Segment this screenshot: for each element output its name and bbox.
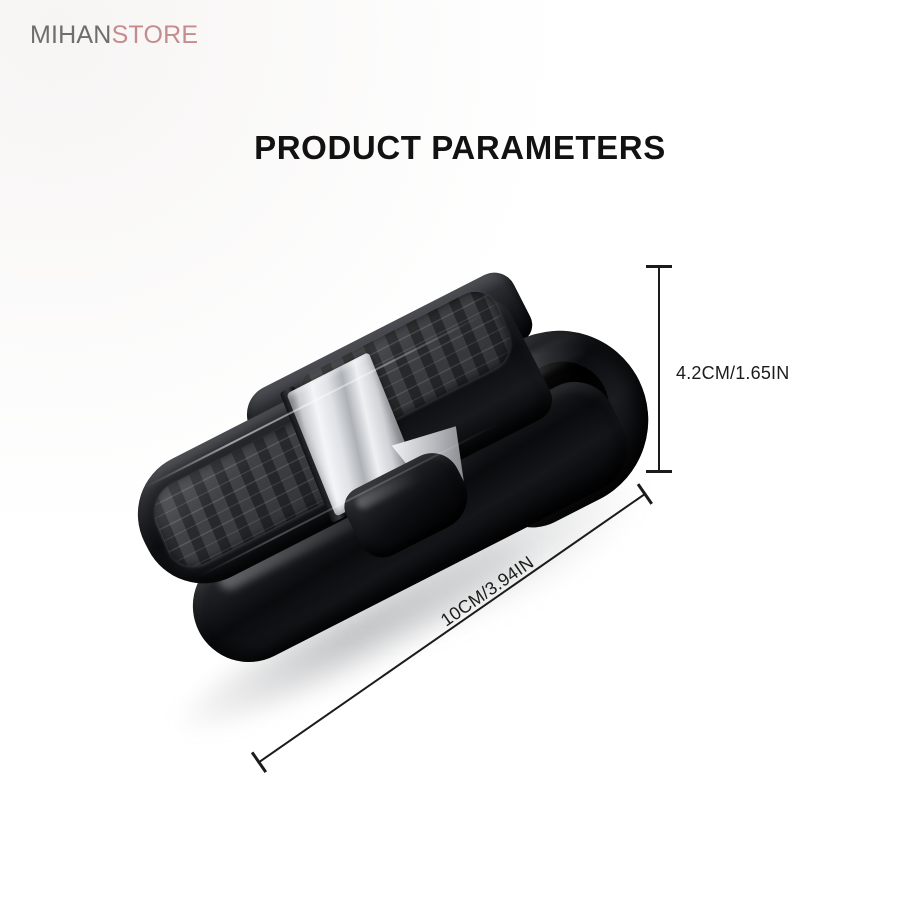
brand-logo: MIHANSTORE (30, 23, 198, 48)
length-dimension-cap-start (251, 752, 267, 773)
height-dimension-cap-bottom (646, 470, 672, 473)
page-title: PRODUCT PARAMETERS (0, 128, 900, 168)
brand-name-primary: MIHAN (30, 21, 112, 49)
product-parameters-image: MIHANSTORE PRODUCT PARAMETERS (0, 0, 900, 900)
product-image (130, 250, 670, 710)
brand-name-secondary: STORE (112, 21, 199, 49)
height-dimension-line (658, 266, 660, 472)
height-dimension-label: 4.2CM/1.65IN (676, 363, 789, 384)
